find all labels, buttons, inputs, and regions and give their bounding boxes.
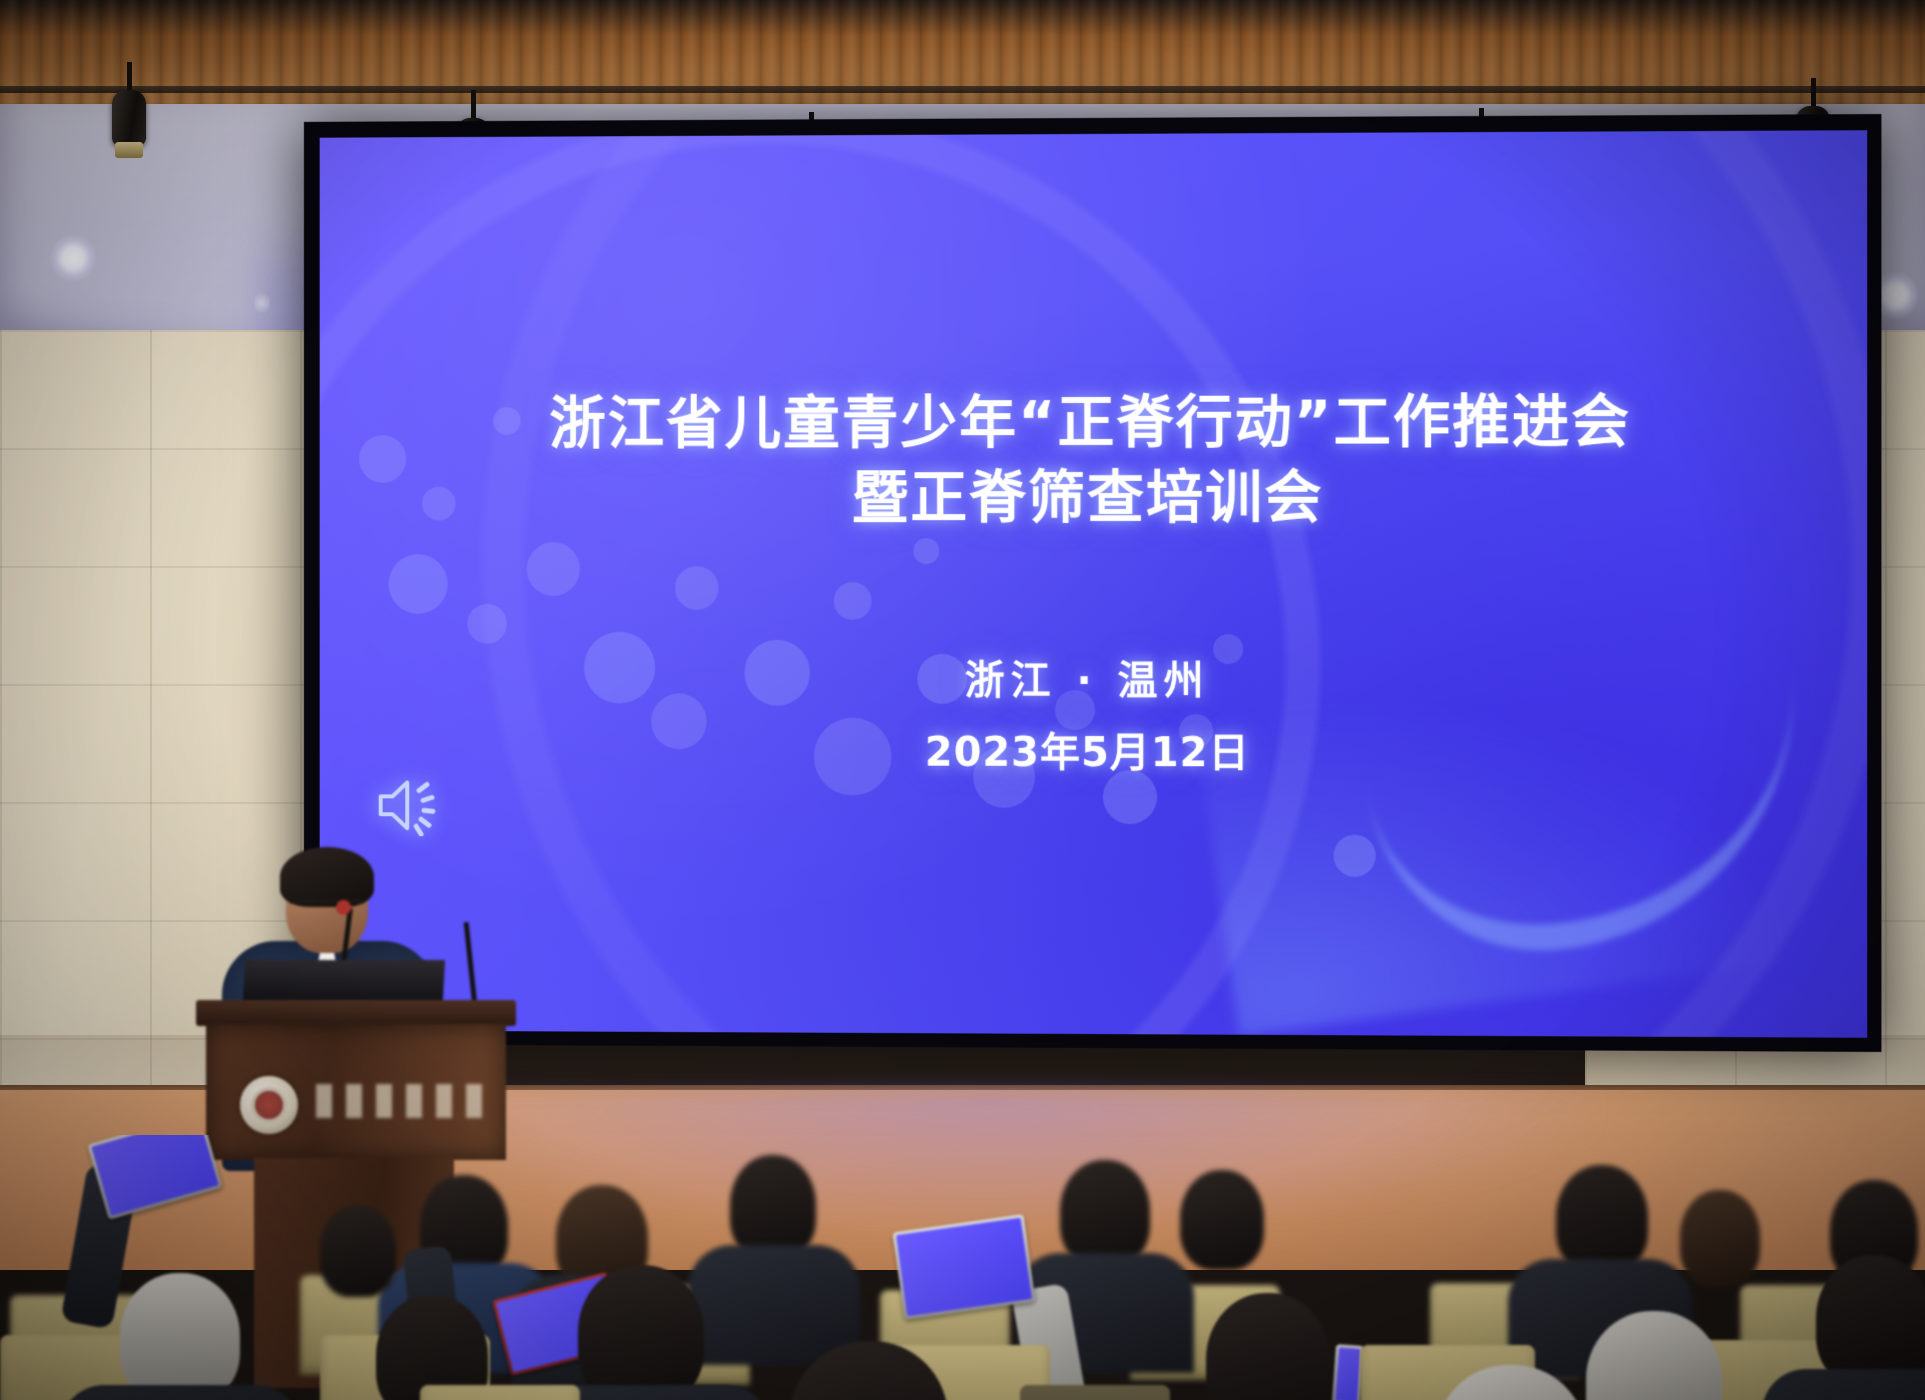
podium-emblem-icon (240, 1076, 298, 1134)
seat (420, 1385, 580, 1400)
wood-ceiling (0, 0, 1925, 120)
microphone-head (336, 900, 351, 915)
downlight-1 (50, 235, 96, 281)
attendee-phone (88, 1135, 223, 1220)
seat (1020, 1385, 1170, 1400)
attendee-head (1680, 1190, 1760, 1286)
speaker-volume-icon[interactable] (375, 775, 444, 837)
attendee-shoulders (60, 1385, 300, 1400)
slide-content: 浙江省儿童青少年“正脊行动”工作推进会 暨正脊筛查培训会 浙江 · 温州 202… (320, 130, 1868, 1038)
attendee-head (120, 1273, 240, 1400)
attendee-head (1060, 1160, 1150, 1266)
audience-area (0, 1135, 1925, 1400)
ceiling-emitter-1 (254, 290, 270, 316)
auditorium-scene: 浙江省儿童青少年“正脊行动”工作推进会 暨正脊筛查培训会 浙江 · 温州 202… (0, 0, 1925, 1400)
slide-title-line-1: 浙江省儿童青少年“正脊行动”工作推进会 (549, 389, 1631, 457)
led-screen[interactable]: 浙江省儿童青少年“正脊行动”工作推进会 暨正脊筛查培训会 浙江 · 温州 202… (320, 130, 1868, 1038)
attendee-shoulders (1762, 1369, 1925, 1400)
slide-title: 浙江省儿童青少年“正脊行动”工作推进会 暨正脊筛查培训会 (549, 385, 1631, 537)
podium-laptop (243, 960, 445, 1000)
slide-title-line-2: 暨正脊筛查培训会 (549, 461, 1631, 537)
podium-top-surface (196, 1000, 516, 1026)
stage-spotlight-1 (108, 62, 150, 166)
slide-place: 浙江 · 温州 (965, 648, 1210, 706)
attendee-head (320, 1205, 396, 1297)
attendee-head (1816, 1255, 1925, 1387)
slide-date: 2023年5月12日 (925, 720, 1250, 779)
attendee-phone (893, 1214, 1036, 1320)
attendee-head (1180, 1170, 1264, 1270)
podium-nameplate (316, 1084, 486, 1118)
attendee-head (730, 1155, 816, 1259)
attendee-head (578, 1265, 704, 1400)
led-screen-bezel: 浙江省儿童青少年“正脊行动”工作推进会 暨正脊筛查培训会 浙江 · 温州 202… (304, 114, 1881, 1052)
presenter-hair (280, 847, 374, 907)
attendee-head (1556, 1165, 1648, 1273)
lighting-track (0, 86, 1925, 93)
